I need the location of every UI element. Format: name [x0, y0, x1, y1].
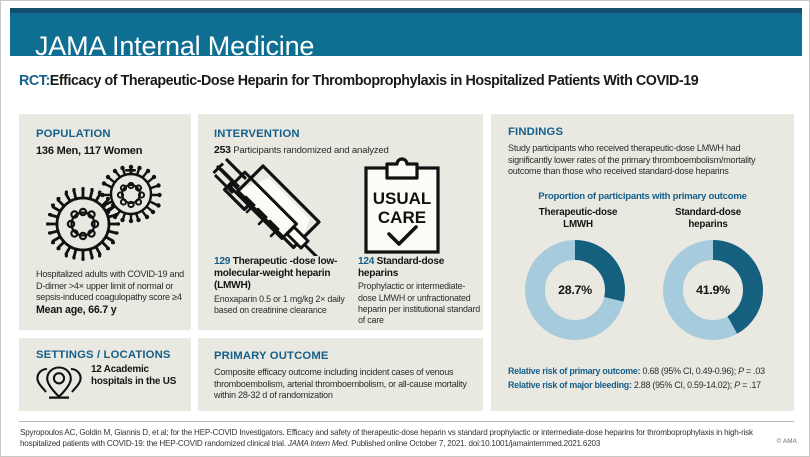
primary-outcome-card: PRIMARY OUTCOME Composite efficacy outco… [198, 338, 483, 411]
syringe-icon [206, 156, 336, 256]
rr-primary-value: 0.68 (95% CI, 0.49-0.96); [640, 366, 738, 376]
infographic-page: JAMA Internal Medicine RCT:Efficacy of T… [0, 0, 810, 457]
chart-title: Proportion of participants with primary … [491, 191, 794, 202]
chart-1-label-line2: heparins [643, 219, 773, 231]
footer-divider [19, 421, 794, 422]
citation-part2: . Published online October 7, 2021. doi:… [347, 439, 600, 448]
findings-summary: Study participants who received therapeu… [508, 143, 783, 178]
population-mean-age: Mean age, 66.7 y [36, 304, 116, 316]
clipboard-line1: USUAL [373, 189, 432, 208]
arm-1-detail: Prophylactic or intermediate-dose LMWH o… [358, 281, 480, 325]
intervention-arm-1: 124 Standard-dose heparins Prophylactic … [358, 256, 480, 326]
rr-primary-p-value: = .03 [744, 366, 765, 376]
study-type-tag: RCT: [19, 73, 50, 89]
chart-1-label-line1: Standard-dose [643, 207, 773, 219]
map-pin-icon [33, 364, 85, 402]
relative-risk-primary: Relative risk of primary outcome: 0.68 (… [508, 366, 765, 376]
donut-0-percent: 28.7% [521, 236, 629, 344]
settings-card: SETTINGS / LOCATIONS 12 Academic hospita… [19, 338, 191, 411]
rr-primary-label: Relative risk of primary outcome: [508, 366, 640, 376]
arm-0-n: 129 [214, 256, 230, 267]
intervention-heading: INTERVENTION [214, 128, 300, 140]
study-title: RCT:Efficacy of Therapeutic-Dose Heparin… [19, 73, 794, 89]
population-heading: POPULATION [36, 128, 111, 140]
population-counts: 136 Men, 117 Women [36, 145, 142, 157]
chart-1-label: Standard-dose heparins [643, 207, 773, 230]
arm-1-n: 124 [358, 256, 374, 267]
clipboard-icon: USUAL CARE [356, 156, 448, 256]
footer-citation: Spyropoulos AC, Goldin M, Giannis D, et … [20, 427, 760, 449]
chart-0-label-line1: Therapeutic-dose [513, 207, 643, 219]
arm-0-name: Therapeutic -dose low-molecular-weight h… [214, 256, 337, 291]
chart-0-label: Therapeutic-dose LMWH [513, 207, 643, 230]
donut-chart-therapeutic: 28.7% [521, 236, 629, 344]
primary-outcome-heading: PRIMARY OUTCOME [214, 350, 329, 362]
clipboard-line2: CARE [378, 208, 426, 227]
participants-number: 253 [214, 145, 231, 156]
copyright-credit: © AMA [777, 438, 797, 445]
findings-card: FINDINGS Study participants who received… [491, 114, 794, 411]
journal-title: JAMA Internal Medicine [35, 31, 314, 62]
rr-bleeding-label: Relative risk of major bleeding: [508, 380, 632, 390]
rr-bleeding-p-value: = .17 [740, 380, 761, 390]
header-bar: JAMA Internal Medicine [10, 13, 802, 56]
rr-bleeding-value: 2.88 (95% CI, 0.59-14.02); [632, 380, 735, 390]
coronavirus-icon [39, 162, 179, 262]
intervention-participants: 253 Participants randomized and analyzed [214, 145, 389, 156]
settings-value: 12 Academic hospitals in the US [91, 364, 191, 387]
findings-heading: FINDINGS [508, 126, 563, 138]
arm-0-detail: Enoxaparin 0.5 or 1 mg/kg 2× daily based… [214, 294, 354, 316]
donut-chart-standard: 41.9% [659, 236, 767, 344]
donut-1-percent: 41.9% [659, 236, 767, 344]
study-title-text: Efficacy of Therapeutic-Dose Heparin for… [50, 73, 698, 89]
citation-journal: JAMA Intern Med [288, 439, 347, 448]
population-card: POPULATION 136 Men, 117 Women [19, 114, 191, 330]
participants-text: Participants randomized and analyzed [233, 145, 388, 156]
population-description: Hospitalized adults with COVID-19 and D-… [36, 269, 184, 304]
relative-risk-bleeding: Relative risk of major bleeding: 2.88 (9… [508, 380, 761, 390]
intervention-card: INTERVENTION 253 Participants randomized… [198, 114, 483, 330]
chart-0-label-line2: LMWH [513, 219, 643, 231]
intervention-arm-0: 129 Therapeutic -dose low-molecular-weig… [214, 256, 354, 316]
settings-heading: SETTINGS / LOCATIONS [36, 349, 171, 361]
primary-outcome-text: Composite efficacy outcome including inc… [214, 367, 476, 402]
